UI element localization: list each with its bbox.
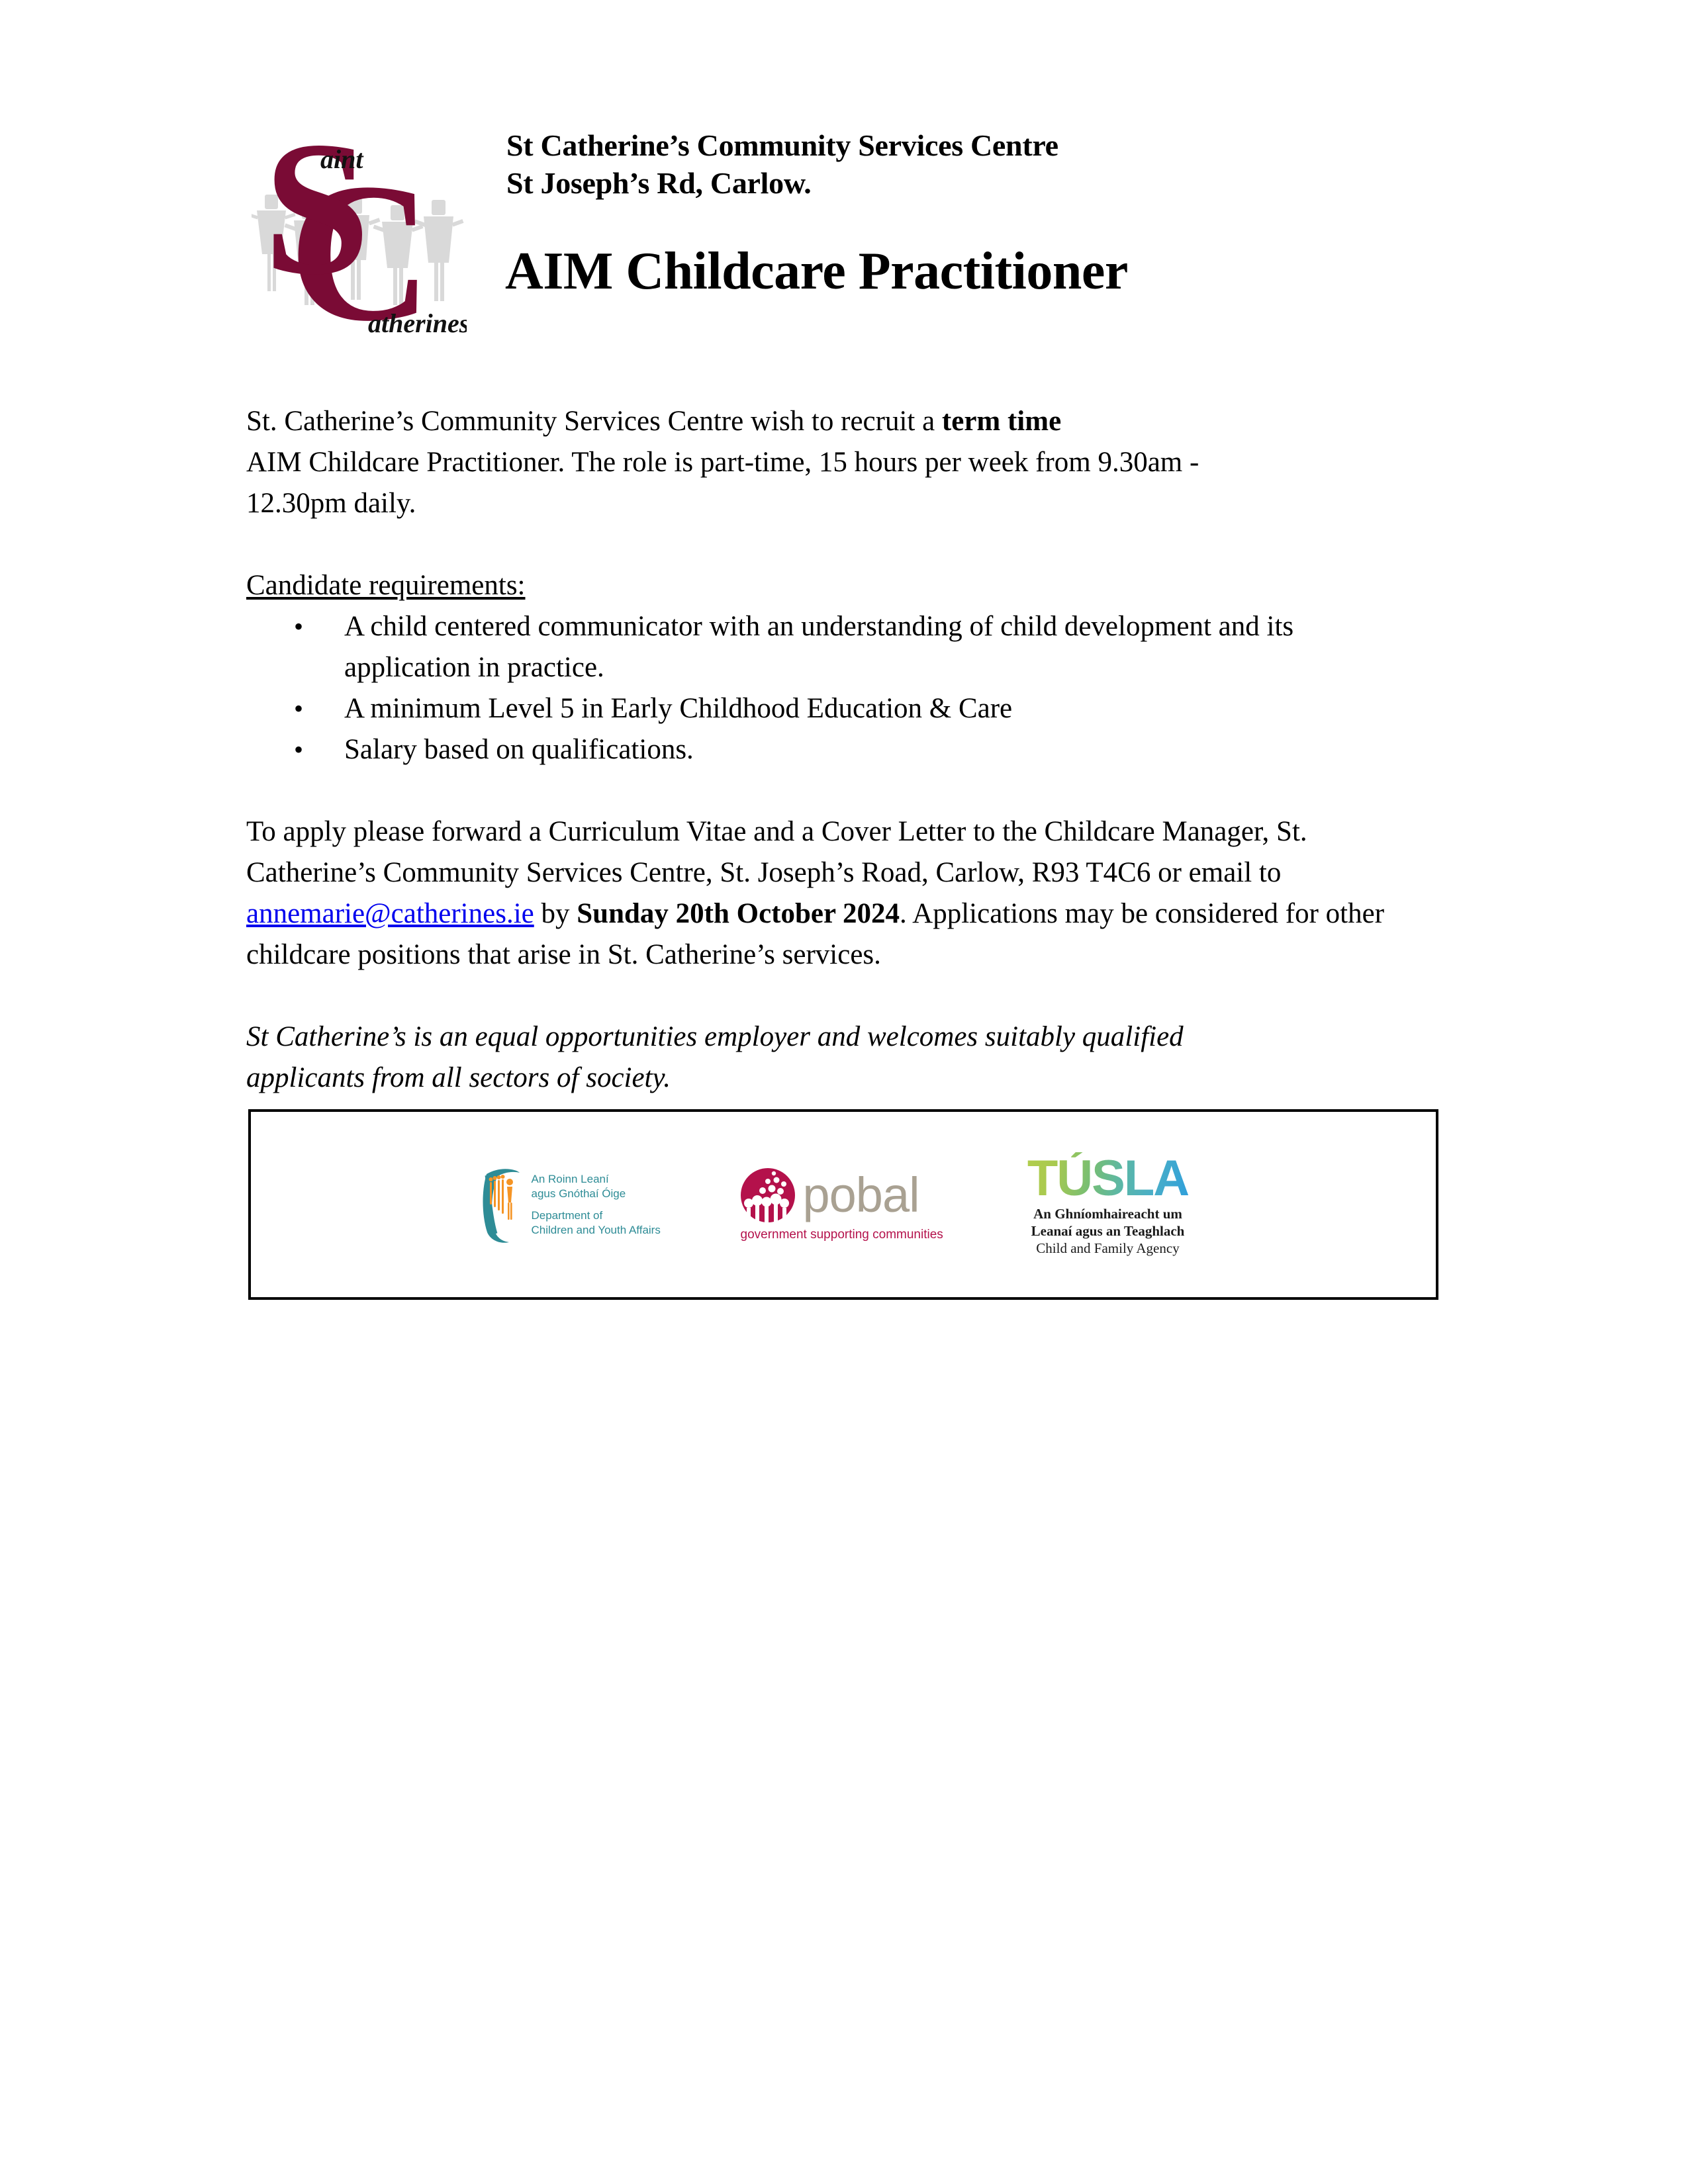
bullet-icon: • <box>294 729 303 770</box>
spacer <box>246 770 1411 811</box>
list-item: • A child centered communicator with an … <box>246 606 1411 688</box>
list-item-label: A minimum Level 5 in Early Childhood Edu… <box>344 693 1012 724</box>
pobal-tagline: government supporting communities <box>741 1228 943 1242</box>
intro-line-2: AIM Childcare Practitioner. The role is … <box>246 447 1199 478</box>
document-header: C S aint atherines St Catherine’s Commun… <box>245 111 1436 343</box>
department-children-youth-affairs-logo: An Roinn Leaní agus Gnóthaí Óige Departm… <box>480 1165 698 1244</box>
pobal-wordmark: pobal <box>803 1171 919 1220</box>
harp-icon <box>480 1165 524 1244</box>
bullet-icon: • <box>294 606 303 647</box>
logo-script-catherines: atherines <box>368 308 467 338</box>
list-item-label: A child centered communicator with an un… <box>344 611 1293 683</box>
term-time-emphasis: term time <box>942 406 1061 437</box>
tusla-wordmark: TÚSLA <box>1027 1152 1188 1205</box>
equal-opportunities-line-2: applicants from all sectors of society. <box>246 1058 1372 1099</box>
logo-script-saint: aint <box>320 144 364 174</box>
apply-text-part-1: To apply please forward a Curriculum Vit… <box>246 816 1307 888</box>
candidate-requirements-heading: Candidate requirements: <box>246 565 1411 606</box>
document-body: St. Catherine’s Community Services Centr… <box>246 401 1411 1099</box>
tusla-irish-line-2: Leanaí agus an Teaghlach <box>1031 1222 1185 1240</box>
intro-line-1: St. Catherine’s Community Services Centr… <box>246 406 1061 437</box>
dcya-wordmark: An Roinn Leaní agus Gnóthaí Óige Departm… <box>532 1172 661 1238</box>
tusla-english-line: Child and Family Agency <box>1036 1240 1179 1257</box>
dcya-irish-line-1: An Roinn Leaní <box>532 1172 661 1187</box>
intro-line-3: 12.30pm daily. <box>246 488 416 519</box>
spacer <box>246 524 1411 565</box>
bullet-icon: • <box>294 688 303 729</box>
how-to-apply-paragraph: To apply please forward a Curriculum Vit… <box>246 811 1411 976</box>
spacer <box>246 976 1411 1017</box>
list-item: • Salary based on qualifications. <box>246 729 1411 770</box>
tusla-irish-line-1: An Ghníomhaireacht um <box>1033 1205 1182 1222</box>
organisation-name: St Catherine’s Community Services Centre… <box>506 126 1433 202</box>
st-catherines-logo: C S aint atherines <box>252 120 467 339</box>
org-address-line: St Joseph’s Rd, Carlow. <box>506 164 1433 202</box>
equal-opportunities-statement: St Catherine’s is an equal opportunities… <box>246 1017 1372 1099</box>
pobal-logo-row: pobal <box>739 1167 919 1224</box>
list-item-label: Salary based on qualifications. <box>344 734 694 765</box>
email-link[interactable]: annemarie@catherines.ie <box>246 898 534 929</box>
equal-opportunities-line-1: St Catherine’s is an equal opportunities… <box>246 1017 1372 1058</box>
intro-paragraph: St. Catherine’s Community Services Centr… <box>246 401 1411 524</box>
candidate-requirements-list: • A child centered communicator with an … <box>246 606 1411 770</box>
funder-logos-box: An Roinn Leaní agus Gnóthaí Óige Departm… <box>248 1109 1438 1300</box>
intro-line-1-text: St. Catherine’s Community Services Centr… <box>246 406 942 437</box>
pobal-logo: pobal government supporting communities <box>739 1167 968 1242</box>
closing-date: Sunday 20th October 2024 <box>577 898 900 929</box>
dcya-english-line-1: Department of <box>532 1208 661 1223</box>
pobal-community-mark-icon <box>739 1167 796 1224</box>
apply-text-part-2: by <box>534 898 577 929</box>
tusla-logo: TÚSLA An Ghníomhaireacht um Leanaí agus … <box>1009 1152 1207 1257</box>
org-name-line-1: St Catherine’s Community Services Centre <box>506 126 1433 164</box>
page-title: AIM Childcare Practitioner <box>505 241 1128 302</box>
funder-logos-row: An Roinn Leaní agus Gnóthaí Óige Departm… <box>251 1112 1436 1297</box>
list-item: • A minimum Level 5 in Early Childhood E… <box>246 688 1411 729</box>
dcya-english-line-2: Children and Youth Affairs <box>532 1223 661 1238</box>
dcya-irish-line-2: agus Gnóthaí Óige <box>532 1187 661 1201</box>
